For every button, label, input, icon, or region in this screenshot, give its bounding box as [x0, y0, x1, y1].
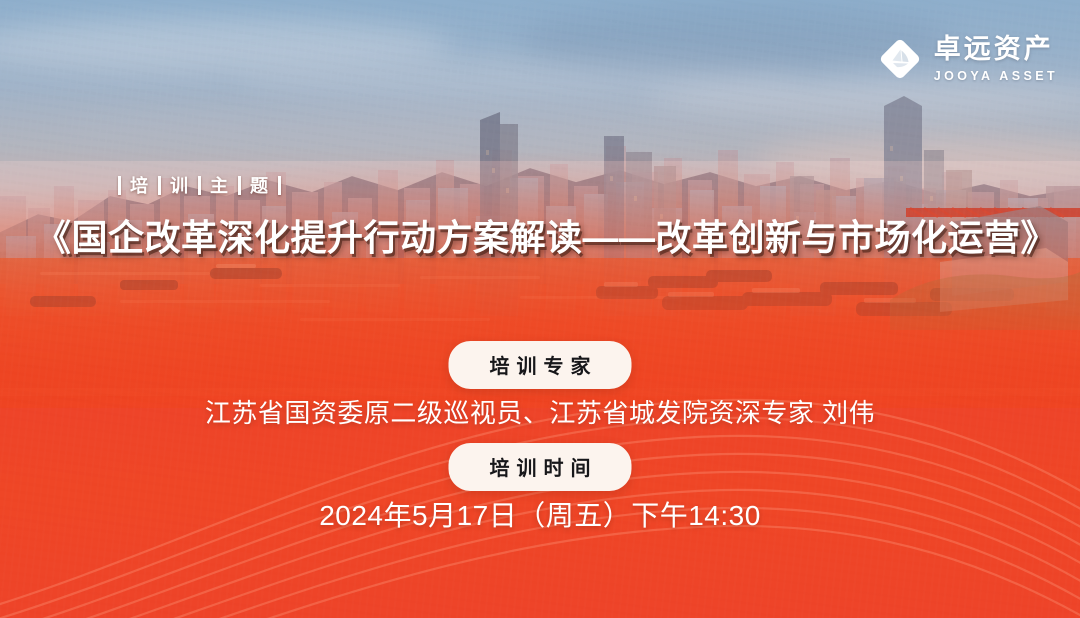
eyebrow-char-3: 主 [201, 172, 238, 198]
eyebrow-separator [278, 176, 281, 195]
eyebrow-char-1: 培 [121, 172, 158, 198]
expert-label-pill: 培训专家 [449, 341, 632, 389]
expert-name-line: 江苏省国资委原二级巡视员、江苏省城发院资深专家 刘伟 [0, 393, 1080, 430]
training-datetime: 2024年5月17日（周五）下午14:30 [0, 494, 1080, 534]
eyebrow-char-4: 题 [241, 172, 278, 198]
logo-name-cn: 卓远资产 [934, 36, 1058, 63]
training-poster: 卓远资产 JOOYA ASSET 培 训 主 题 《国企改革深化提升行动方案解读… [0, 0, 1080, 618]
topic-eyebrow: 培 训 主 题 [118, 172, 281, 198]
jooya-diamond-book-logo-icon [877, 36, 923, 82]
brand-logo[interactable]: 卓远资产 JOOYA ASSET [877, 36, 1058, 83]
time-label-pill: 培训时间 [449, 443, 632, 491]
eyebrow-char-2: 训 [161, 172, 198, 198]
logo-text-block: 卓远资产 JOOYA ASSET [934, 36, 1058, 83]
poster-title: 《国企改革深化提升行动方案解读——改革创新与市场化运营》 [35, 209, 1045, 261]
logo-name-en: JOOYA ASSET [934, 70, 1058, 83]
